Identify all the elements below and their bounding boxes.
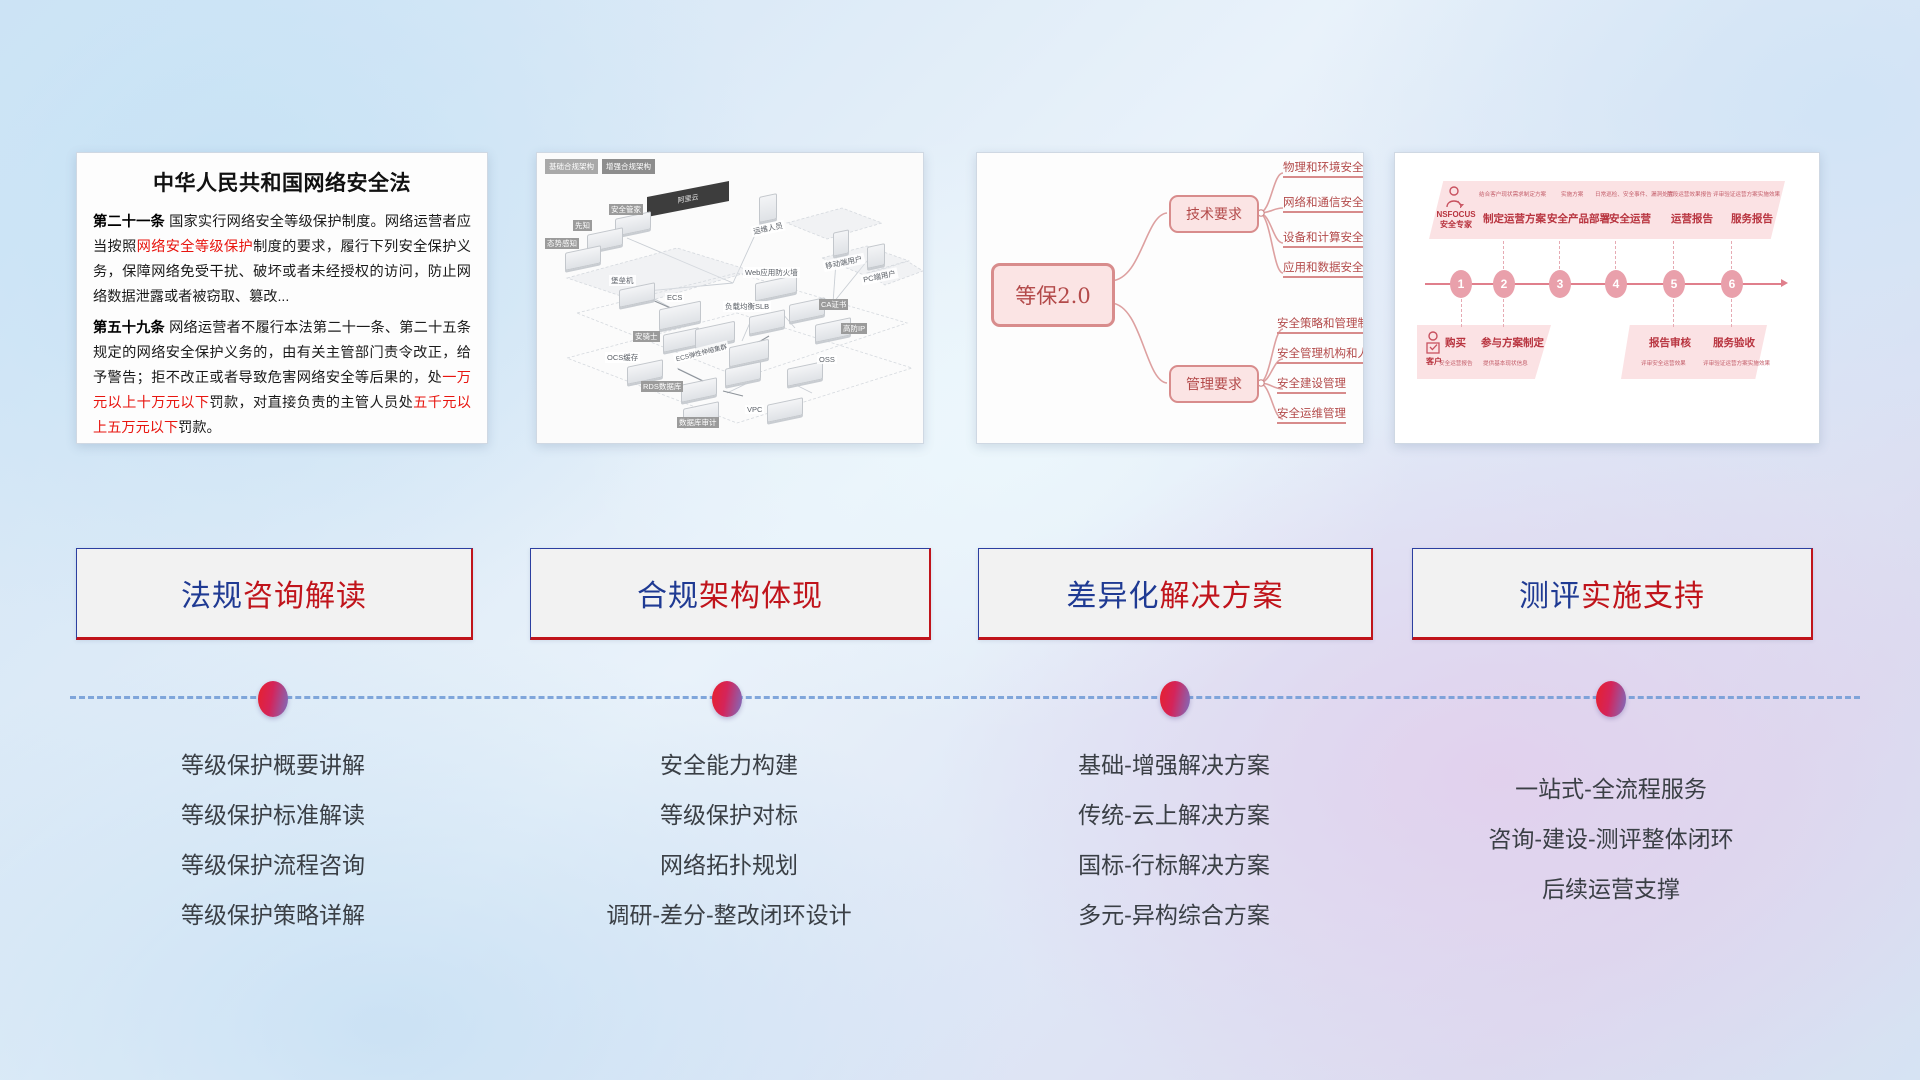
node-pc-user: PC端用户 (867, 245, 885, 267)
timeline-node-3[interactable]: 3 (1549, 270, 1571, 298)
timeline-dashed-line (70, 696, 1860, 699)
mindmap-leaf-physical: 物理和环境安全 (1283, 159, 1364, 178)
node-bastion-host: 堡垒机 (619, 286, 655, 304)
section-3-title-blue: 差异化 (1067, 571, 1160, 615)
architecture-diagram: 基础合规架构 增强合规架构 阿里云 (537, 153, 923, 443)
timeline-node-1[interactable]: 1 (1450, 270, 1472, 298)
list-item: 传统-云上解决方案 (978, 790, 1370, 840)
node-ecs: ECS (659, 305, 701, 326)
node-anti-ddos-ip: 高防IP (815, 321, 851, 339)
section-4-title-blue: 测评 (1519, 571, 1581, 615)
mindmap-leaf-ops: 安全运维管理 (1277, 405, 1346, 424)
law-title: 中华人民共和国网络安全法 (93, 167, 471, 197)
law-article-59-label: 第五十九条 (93, 320, 165, 336)
step-3-title: 安全产品部署 (1547, 211, 1610, 226)
mindmap-leaf-build: 安全建设管理 (1277, 375, 1346, 394)
connector-2-bottom (1503, 299, 1504, 327)
step-6-sub: 评审验证运营方案实施效果 (1713, 190, 1780, 198)
timeline-node-6[interactable]: 6 (1721, 270, 1743, 298)
timeline-node-5[interactable]: 5 (1663, 270, 1685, 298)
detail-list-assessment: 一站式-全流程服务 咨询-建设-测评整体闭环 后续运营支撑 (1412, 764, 1810, 914)
expert-label: NSFOCUS 安全专家 (1431, 210, 1481, 230)
step-4-title: 安全运营 (1609, 211, 1651, 226)
poster-canvas: 中华人民共和国网络安全法 第二十一条 国家实行网络安全等级保护制度。网络运营者应… (0, 0, 1920, 1080)
step-5-sub: 阶段运营效果报告 (1667, 190, 1712, 198)
timeline-marker-2[interactable] (712, 681, 742, 717)
list-item: 等级保护对标 (530, 790, 928, 840)
timeline-arrow-icon (1781, 279, 1788, 287)
card-dengbao-mindmap[interactable]: 等保2.0 技术要求 管理要求 物理和环境安全 网络和通信安全 设备和计算安全 … (976, 152, 1364, 444)
expert-label-line2: 安全专家 (1431, 220, 1481, 230)
node-ca-certificate: CA证书 (789, 301, 825, 319)
section-2-title-red: 架构体现 (699, 571, 823, 615)
law-article-21-highlight: 网络安全等级保护 (137, 239, 253, 255)
customer-person-icon (1423, 331, 1443, 355)
card-nsfocus-timeline[interactable]: NSFOCUS 安全专家 客户 结合客户现状需求制定方案 制定运营方案 实施方案… (1394, 152, 1820, 444)
node-situation-awareness: 态势感知 (565, 249, 601, 267)
connector-5-top (1673, 241, 1674, 269)
list-item: 等级保护流程咨询 (76, 840, 470, 890)
section-1-title-red: 咨询解读 (243, 571, 367, 615)
connector-4-top (1615, 241, 1616, 269)
step-4-sub: 日常巡检、安全事件、漏洞处置 (1595, 190, 1673, 198)
step-3-sub: 实施方案 (1561, 190, 1583, 198)
law-article-59-mid: 罚款，对直接负责的主管人员处 (209, 395, 413, 411)
list-item: 基础-增强解决方案 (978, 740, 1370, 790)
list-item: 网络拓扑规划 (530, 840, 928, 890)
step-1-title: 购买 (1445, 335, 1466, 350)
node-ecs-scaling-group: ECS弹性伸缩集群 (695, 325, 735, 345)
card-row: 中华人民共和国网络安全法 第二十一条 国家实行网络安全等级保护制度。网络运营者应… (0, 0, 1920, 470)
architecture-connectors (537, 153, 923, 443)
list-item: 咨询-建设-测评整体闭环 (1412, 814, 1810, 864)
mindmap-leaf-org: 安全管理机构和人员 (1277, 345, 1364, 364)
connector-3-top (1559, 241, 1560, 269)
step-2-sub: 提供基本现状信息 (1483, 359, 1528, 367)
timeline-marker-4[interactable] (1596, 681, 1626, 717)
connector-6-top (1731, 241, 1732, 269)
law-text-body: 中华人民共和国网络安全法 第二十一条 国家实行网络安全等级保护制度。网络运营者应… (77, 153, 487, 443)
timeline-node-2[interactable]: 2 (1493, 270, 1515, 298)
list-item: 国标-行标解决方案 (978, 840, 1370, 890)
step-5b-title: 报告审核 (1649, 335, 1691, 350)
timeline-marker-3[interactable] (1160, 681, 1190, 717)
section-detail-lists: 等级保护概要讲解 等级保护标准解读 等级保护流程咨询 等级保护策略详解 安全能力… (0, 740, 1920, 970)
list-item: 等级保护标准解读 (76, 790, 470, 840)
node-ocs-cache: OCS缓存 (627, 363, 663, 381)
step-2-top-sub: 结合客户现状需求制定方案 (1479, 190, 1546, 198)
law-article-59: 第五十九条 网络运营者不履行本法第二十一条、第二十五条规定的网络安全保护义务的，… (93, 316, 471, 441)
customer-band-right (1621, 325, 1767, 379)
section-title-assessment-support[interactable]: 测评实施支持 (1412, 548, 1813, 640)
mindmap-root: 等保2.0 (991, 263, 1115, 327)
step-6b-title: 服务验收 (1713, 335, 1755, 350)
step-6b-sub: 评审验证运营方案实施效果 (1703, 359, 1770, 367)
section-title-row: 法规咨询解读 合规架构体现 差异化解决方案 测评实施支持 (0, 548, 1920, 640)
step-5b-sub: 评审安全运营效果 (1641, 359, 1686, 367)
step-2-top-title: 制定运营方案 (1483, 211, 1546, 226)
connector-2-top (1503, 241, 1504, 269)
section-1-title-blue: 法规 (181, 571, 243, 615)
section-4-title-red: 实施支持 (1581, 571, 1705, 615)
mindmap-leaf-network: 网络和通信安全 (1283, 194, 1364, 213)
node-slb: 负载均衡SLB (749, 313, 785, 331)
section-3-title-red: 解决方案 (1160, 571, 1284, 615)
node-vpc: VPC (767, 401, 803, 419)
section-title-compliance-architecture[interactable]: 合规架构体现 (530, 548, 931, 640)
card-compliance-architecture[interactable]: 基础合规架构 增强合规架构 阿里云 (536, 152, 924, 444)
mindmap: 等保2.0 技术要求 管理要求 物理和环境安全 网络和通信安全 设备和计算安全 … (977, 153, 1363, 443)
step-1-sub: 安全运营报告 (1439, 359, 1473, 367)
step-5-title: 运营报告 (1671, 211, 1713, 226)
nsfocus-timeline: NSFOCUS 安全专家 客户 结合客户现状需求制定方案 制定运营方案 实施方案… (1395, 153, 1819, 443)
node-ecs-scaling-2 (729, 343, 769, 363)
mindmap-leaf-application: 应用和数据安全 (1283, 259, 1364, 278)
timeline-node-4[interactable]: 4 (1605, 270, 1627, 298)
section-title-differentiated-solution[interactable]: 差异化解决方案 (978, 548, 1373, 640)
progress-timeline (0, 666, 1920, 736)
list-item: 等级保护概要讲解 (76, 740, 470, 790)
detail-list-regulation: 等级保护概要讲解 等级保护标准解读 等级保护流程咨询 等级保护策略详解 (76, 740, 470, 940)
node-database-audit: 数据库审计 (683, 405, 719, 423)
law-article-59-end: 罚款。 (178, 420, 221, 436)
connector-5-bottom (1673, 299, 1674, 327)
step-6-title: 服务报告 (1731, 211, 1773, 226)
list-item: 等级保护策略详解 (76, 890, 470, 940)
node-rds-database: RDS数据库 (681, 381, 717, 399)
law-article-21: 第二十一条 国家实行网络安全等级保护制度。网络运营者应当按照网络安全等级保护制度… (93, 210, 471, 310)
expert-label-line1: NSFOCUS (1431, 210, 1481, 220)
mindmap-leaf-device: 设备和计算安全 (1283, 229, 1364, 248)
connector-6-bottom (1731, 299, 1732, 327)
list-item: 多元-异构综合方案 (978, 890, 1370, 940)
list-item: 安全能力构建 (530, 740, 928, 790)
card-cybersecurity-law[interactable]: 中华人民共和国网络安全法 第二十一条 国家实行网络安全等级保护制度。网络运营者应… (76, 152, 488, 444)
list-item: 调研-差分-整改闭环设计 (530, 890, 928, 940)
node-oss: OSS (787, 365, 823, 383)
mindmap-branch-technical: 技术要求 (1169, 195, 1259, 233)
expert-person-icon (1443, 186, 1465, 208)
node-ecs-scaling-3 (725, 365, 761, 383)
section-2-title-blue: 合规 (637, 571, 699, 615)
detail-list-solution: 基础-增强解决方案 传统-云上解决方案 国标-行标解决方案 多元-异构综合方案 (978, 740, 1370, 940)
node-anqishi: 安骑士 (663, 331, 699, 349)
node-mobile-user: 移动端用户 (833, 231, 849, 255)
law-article-21-label: 第二十一条 (93, 214, 165, 230)
detail-list-architecture: 安全能力构建 等级保护对标 网络拓扑规划 调研-差分-整改闭环设计 (530, 740, 928, 940)
timeline-marker-1[interactable] (258, 681, 288, 717)
step-2-title: 参与方案制定 (1481, 335, 1544, 350)
section-title-regulation-consulting[interactable]: 法规咨询解读 (76, 548, 473, 640)
mindmap-leaf-policy: 安全策略和管理制度 (1277, 315, 1364, 334)
connector-1-bottom (1461, 299, 1462, 327)
mindmap-branch-management: 管理要求 (1169, 365, 1259, 403)
node-waf: Web应用防火墙 (755, 279, 797, 297)
list-item: 一站式-全流程服务 (1412, 764, 1810, 814)
node-ops-user: 运维人员 (759, 195, 777, 221)
list-item: 后续运营支撑 (1412, 864, 1810, 914)
